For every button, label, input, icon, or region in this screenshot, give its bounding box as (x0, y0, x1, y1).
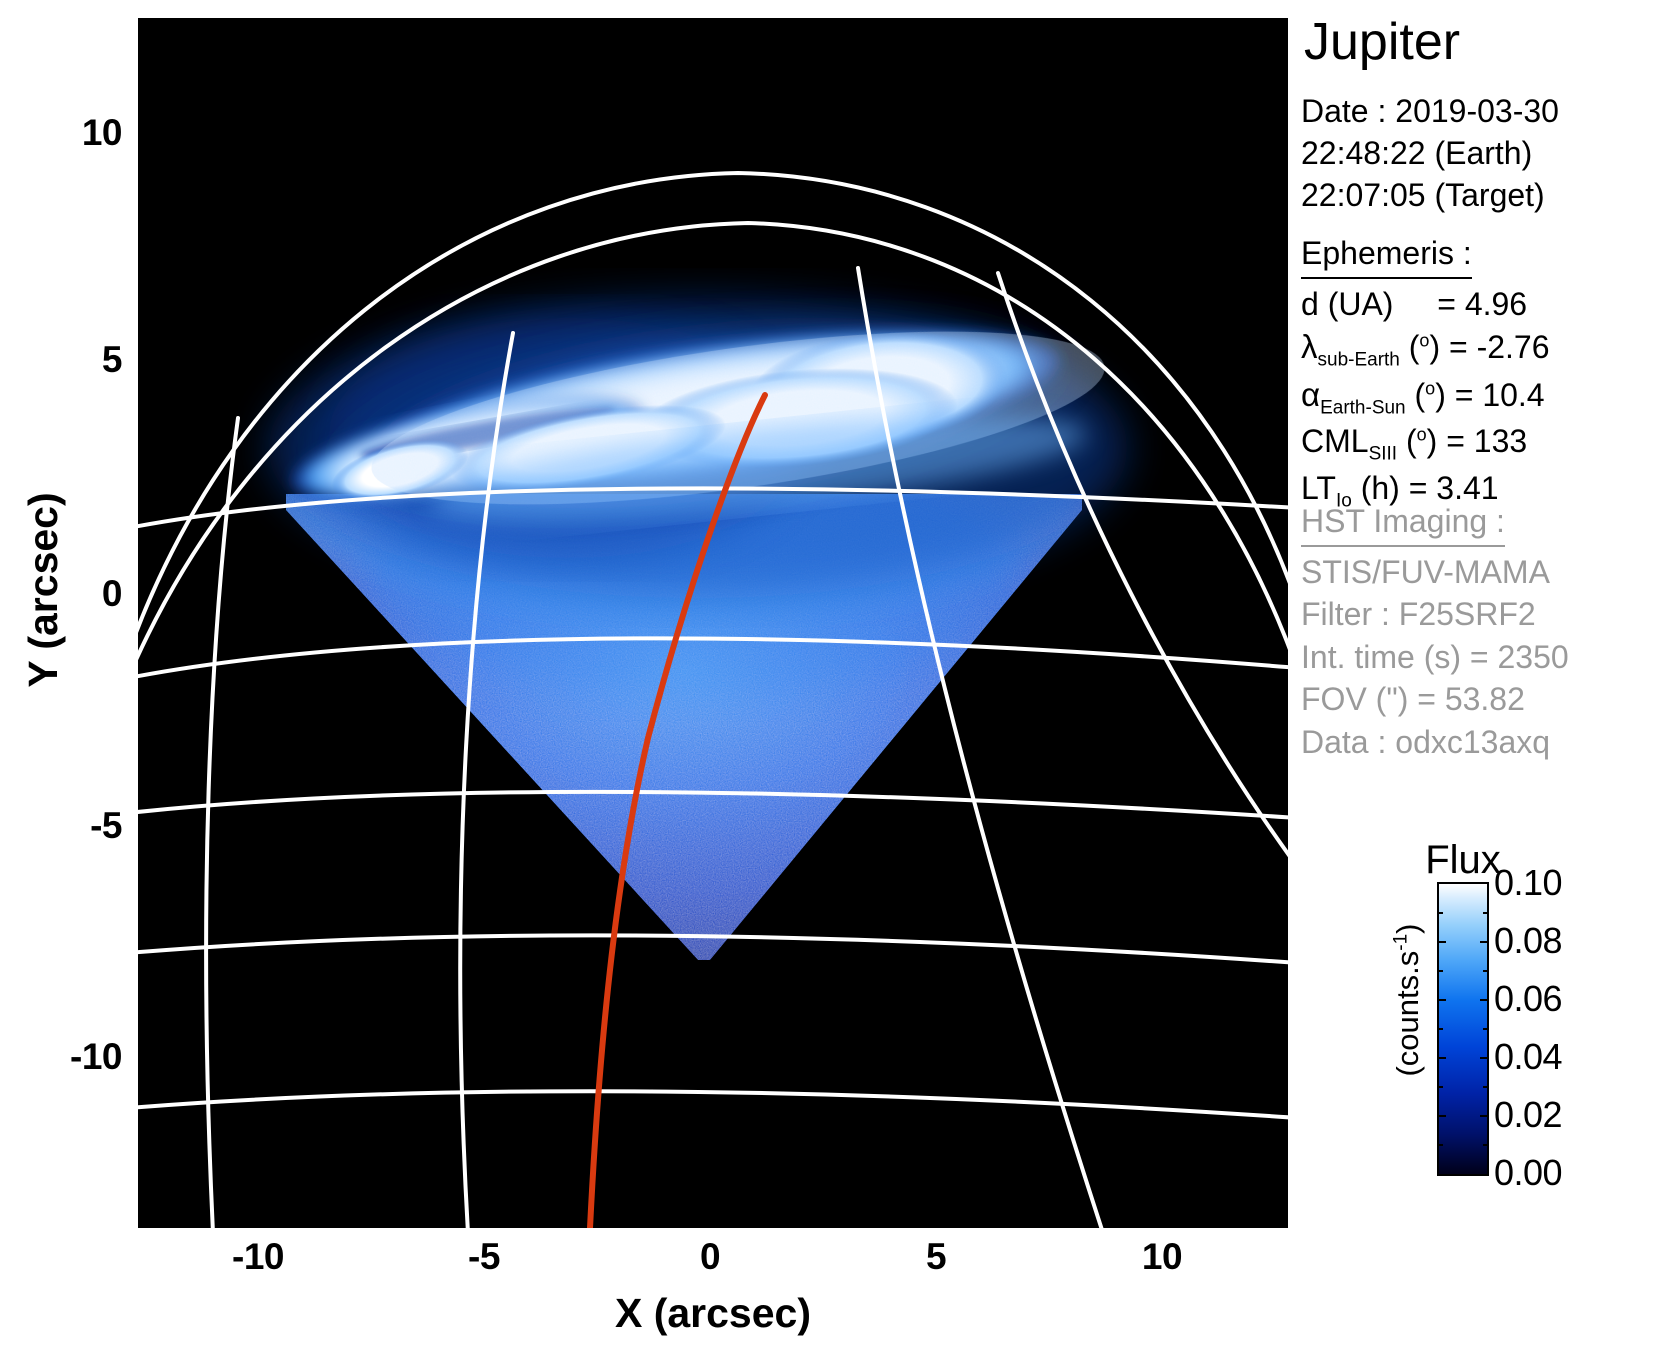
lambda-value: = -2.76 (1449, 329, 1550, 365)
hst-heading: HST Imaging : (1301, 500, 1505, 547)
aurora-plot-svg (138, 18, 1288, 1228)
colorbar-axis-label-main: (counts.s (1390, 951, 1425, 1077)
distance-label: d (UA) (1301, 286, 1393, 322)
x-tick-label: 10 (1102, 1236, 1222, 1278)
observation-date-block: Date : 2019-03-30 22:48:22 (Earth) 22:07… (1301, 90, 1559, 217)
ephemeris-row-lambda: λsub-Earth (o) = -2.76 (1301, 325, 1550, 373)
colorbar-tick-label: 0.06 (1494, 978, 1562, 1020)
cml-label: CML (1301, 423, 1369, 459)
lambda-symbol: λ (1301, 328, 1318, 365)
observation-time-earth: 22:48:22 (Earth) (1301, 135, 1532, 171)
x-tick-label: 5 (876, 1236, 996, 1278)
hst-fov: FOV (") = 53.82 (1301, 681, 1525, 717)
colorbar-tick-label: 0.04 (1494, 1036, 1562, 1078)
hst-filter: Filter : F25SRF2 (1301, 596, 1536, 632)
ephemeris-heading: Ephemeris : (1301, 232, 1472, 279)
degree-unit: (o) (1406, 423, 1437, 459)
x-axis-title: X (arcsec) (138, 1290, 1288, 1337)
alpha-symbol: α (1301, 376, 1320, 413)
colorbar-axis-label: (counts.s-1) (1390, 860, 1426, 1140)
x-tick-label: 0 (650, 1236, 770, 1278)
ephemeris-row-alpha: αEarth-Sun (o) = 10.4 (1301, 373, 1550, 421)
distance-value: = 4.96 (1437, 286, 1527, 322)
ephemeris-block: Ephemeris : d (UA) = 4.96 λsub-Earth (o)… (1301, 232, 1550, 514)
y-axis-title: Y (arcsec) (20, 440, 67, 740)
colorbar-tick-label: 0.08 (1494, 920, 1562, 962)
figure-root: 10 5 0 -5 -10 Y (arcsec) -10 -5 0 5 10 X… (0, 0, 1676, 1367)
target-title: Jupiter (1304, 16, 1460, 68)
colorbar-tick-label: 0.10 (1494, 862, 1562, 904)
colorbar-gradient (1437, 882, 1489, 1176)
degree-unit: (o) (1415, 377, 1446, 413)
degree-unit: (o) (1409, 329, 1440, 365)
x-tick-label: -10 (198, 1236, 318, 1278)
cml-value: = 133 (1446, 423, 1527, 459)
ephemeris-row-distance: d (UA) = 4.96 (1301, 283, 1550, 326)
x-tick-label: -5 (424, 1236, 544, 1278)
colorbar-ticks (1439, 884, 1487, 1174)
info-panel: Jupiter Date : 2019-03-30 22:48:22 (Eart… (1298, 0, 1676, 800)
aurora-image-panel (138, 18, 1288, 1228)
ephemeris-row-cml: CMLSIII (o) = 133 (1301, 420, 1550, 467)
colorbar-tick-label: 0.02 (1494, 1094, 1562, 1136)
y-tick-label: 5 (0, 339, 122, 381)
y-tick-label: 10 (0, 112, 122, 154)
hst-data-id: Data : odxc13axq (1301, 724, 1550, 760)
colorbar-tick-label: 0.00 (1494, 1152, 1562, 1194)
hst-integration-time: Int. time (s) = 2350 (1301, 639, 1569, 675)
cml-subscript: SIII (1369, 444, 1398, 465)
y-tick-label: -5 (0, 805, 122, 847)
hst-instrument: STIS/FUV-MAMA (1301, 554, 1550, 590)
alpha-value: = 10.4 (1455, 377, 1545, 413)
observation-date: Date : 2019-03-30 (1301, 93, 1559, 129)
hst-imaging-block: HST Imaging : STIS/FUV-MAMA Filter : F25… (1301, 500, 1569, 763)
lambda-subscript: sub-Earth (1318, 349, 1400, 370)
alpha-subscript: Earth-Sun (1320, 397, 1406, 418)
y-tick-label: -10 (0, 1036, 122, 1078)
colorbar-axis-label-close: ) (1390, 924, 1425, 934)
colorbar-axis-label-exponent: -1 (1391, 934, 1412, 951)
observation-time-target: 22:07:05 (Target) (1301, 177, 1545, 213)
